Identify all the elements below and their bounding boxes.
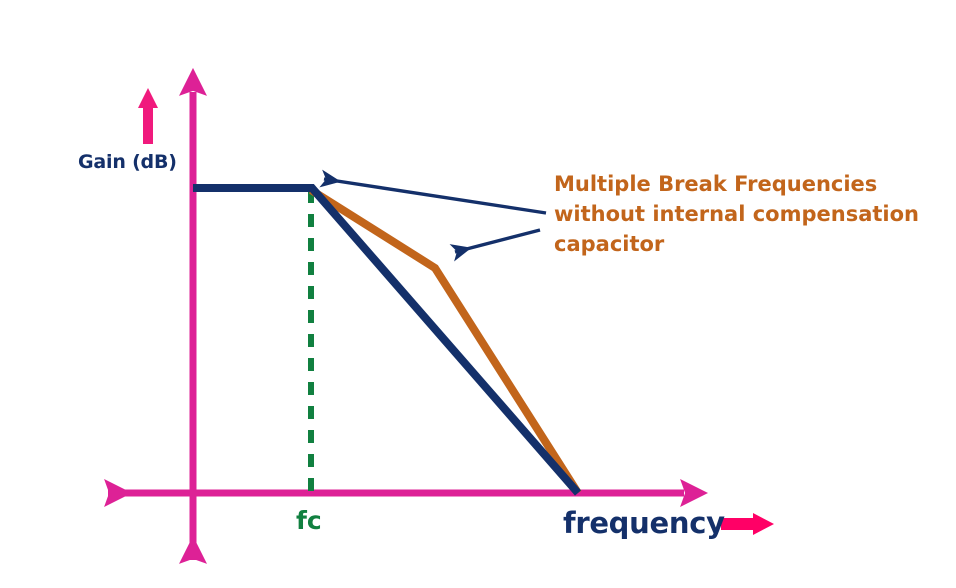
y-axis-label: Gain (dB) [78, 150, 177, 174]
annotation-pointer-two [455, 230, 540, 252]
break-frequency-label: fc [296, 505, 322, 537]
gain-direction-arrow-icon [138, 88, 158, 144]
annotation-text: Multiple Break Frequencies without inter… [554, 169, 919, 259]
frequency-direction-arrow-icon [721, 513, 774, 535]
figure-canvas: Gain (dB) fc frequency Multiple Break Fr… [0, 0, 956, 588]
bode-plot-graphic [0, 0, 956, 588]
x-axis-label: frequency [563, 505, 725, 542]
annotation-pointer-one [324, 179, 546, 213]
